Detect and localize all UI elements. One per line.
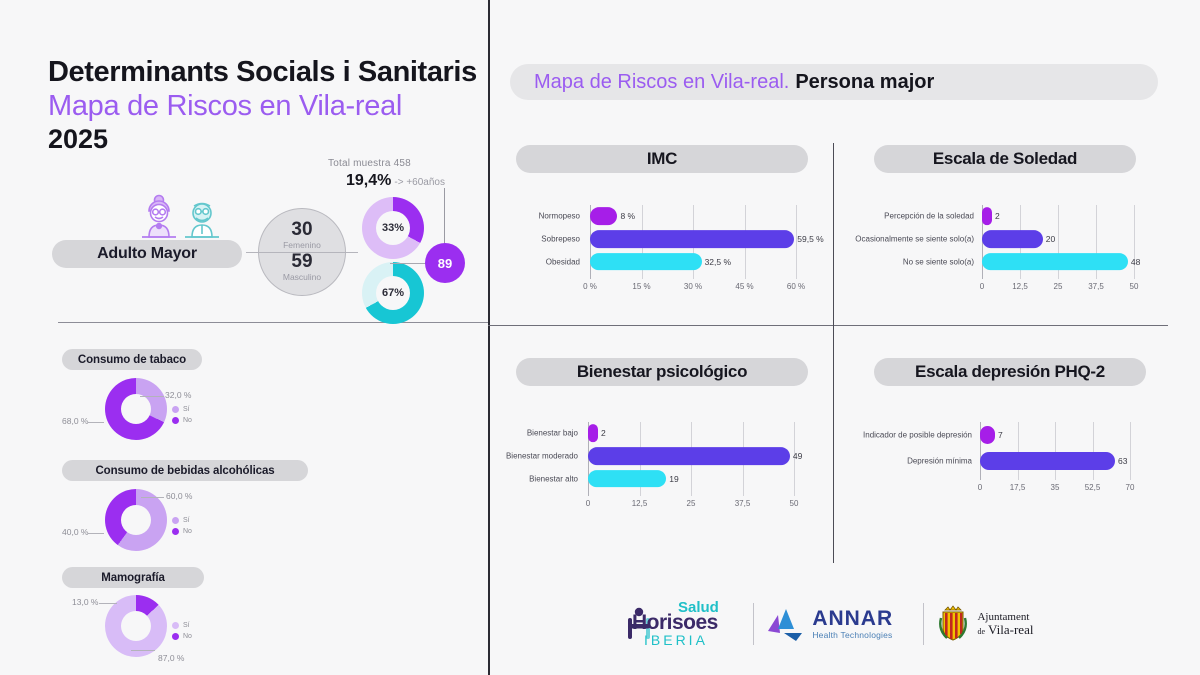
chart-x-tick: 15 % (632, 282, 650, 291)
chart-category-label: Depresión mínima (0, 457, 972, 466)
legend-swatch (172, 517, 179, 524)
chart-gridline (1093, 422, 1094, 480)
annar-logo-sub: Health Technologies (812, 631, 893, 640)
chart-x-tick: 17,5 (1010, 483, 1026, 492)
legend-label: No (183, 633, 192, 640)
male-label: Masculino (283, 272, 321, 282)
female-donut-value: 33% (382, 222, 404, 234)
chart-bar[interactable] (982, 208, 992, 226)
chart-category-label: Ocasionalmente se siente solo(a) (0, 235, 974, 244)
logo-divider-1 (753, 603, 754, 645)
ajuntament-vila-real-logo: Ajuntament de Vila-real (935, 601, 1046, 647)
donut-legend: SíNo (172, 517, 192, 539)
donut-leader-line (88, 422, 104, 423)
legend-swatch (172, 406, 179, 413)
donut-legend: SíNo (172, 406, 192, 428)
chart-x-tick: 37,5 (1088, 282, 1104, 291)
section-chip-mamografia[interactable]: Mamografía (62, 567, 204, 588)
donut-leader-line (140, 396, 164, 397)
donut-slice-label: 40,0 % (62, 527, 88, 537)
section-chip-tabaco[interactable]: Consumo de tabaco (62, 349, 202, 370)
chart-x-tick: 37,5 (735, 499, 751, 508)
chart-bar-value: 7 (998, 430, 1003, 440)
banner-subtitle: Mapa de Riscos en Vila-real. (534, 71, 789, 94)
chart-bar-value: 63 (1118, 456, 1127, 466)
chart-bar-value: 20 (1046, 234, 1055, 244)
donut-chart-alcohol (105, 489, 167, 551)
chart-category-label: No se siente solo(a) (0, 257, 974, 266)
legend-swatch (172, 528, 179, 535)
chart-x-tick: 45 % (735, 282, 753, 291)
donut-chart-mamografia (105, 595, 167, 657)
chart-x-tick: 12,5 (1012, 282, 1028, 291)
sample-percent-row: 19,4%-> +60años (346, 172, 445, 190)
gender-separator-line (246, 252, 358, 253)
donut-leader-line (88, 533, 104, 534)
dashboard-canvas: Determinants Socials i Sanitaris Mapa de… (0, 0, 1200, 675)
chart-gridline (1055, 422, 1056, 480)
donut-legend: SíNo (172, 622, 192, 644)
donut-slice-label: 13,0 % (72, 597, 98, 607)
legend-swatch (172, 417, 179, 424)
legend-label: Sí (183, 622, 190, 629)
chart-bar[interactable] (980, 452, 1115, 470)
chart-category-label: Percepción de la soledad (0, 212, 974, 221)
chart-x-tick: 0 (978, 483, 982, 492)
legend-item: Sí (172, 517, 192, 524)
sample-total-label: Total muestra 458 (328, 158, 445, 169)
ajuntament-logo-de: de (977, 627, 985, 636)
chart-x-tick: 25 (687, 499, 696, 508)
female-percent-donut: 33% (362, 197, 424, 259)
ajuntament-logo-line2: de Vila-real (977, 623, 1033, 637)
legend-item: No (172, 417, 192, 424)
main-vertical-divider (488, 0, 490, 675)
horisoes-salud-iberia-logo: Salud Horisoes IBERIA (626, 599, 741, 649)
legend-swatch (172, 633, 179, 640)
chart-x-tick: 0 (586, 499, 590, 508)
chart-bar[interactable] (588, 470, 666, 488)
chart-gridline (1018, 422, 1019, 480)
legend-label: No (183, 417, 192, 424)
donut-slice-label: 68,0 % (62, 416, 88, 426)
page-title: Determinants Socials i Sanitaris Mapa de… (48, 56, 477, 155)
chart-title-soledad: Escala de Soledad (874, 145, 1136, 173)
donut-leader-line (99, 603, 117, 604)
right-horizontal-divider (488, 325, 1168, 326)
annar-health-technologies-logo: ANNAR Health Technologies (766, 601, 910, 647)
chart-bar-value: 48 (1131, 257, 1140, 267)
legend-label: Sí (183, 517, 190, 524)
horisoes-logo-bottom: IBERIA (644, 632, 708, 648)
chart-gridline (1134, 205, 1135, 279)
sample-summary: Total muestra 458 19,4%-> +60años (328, 158, 445, 190)
vila-real-coat-of-arms-icon (935, 604, 971, 644)
chart-title-phq2: Escala depresión PHQ-2 (874, 358, 1146, 386)
title-line-3: 2025 (48, 124, 477, 155)
legend-item: Sí (172, 622, 192, 629)
male-percent-donut: 67% (362, 262, 424, 324)
legend-label: No (183, 528, 192, 535)
legend-item: No (172, 528, 192, 535)
donut-slice-label: 87,0 % (158, 653, 184, 663)
chart-bar[interactable] (982, 230, 1043, 248)
title-line-1: Determinants Socials i Sanitaris (48, 56, 477, 89)
chart-x-tick: 50 (1130, 282, 1139, 291)
legend-label: Sí (183, 406, 190, 413)
chart-bar[interactable] (980, 426, 995, 444)
chart-x-tick: 60 % (787, 282, 805, 291)
chart-x-tick: 30 % (684, 282, 702, 291)
donut-leader-line (131, 650, 155, 651)
section-banner: Mapa de Riscos en Vila-real. Persona maj… (510, 64, 1158, 100)
chart-category-label: Indicador de posible depresión (0, 431, 972, 440)
chart-bar-value: 19 (669, 474, 678, 484)
chart-gridline (1130, 422, 1131, 480)
donut-slice-label: 32,0 % (165, 390, 191, 400)
chart-title-bienestar: Bienestar psicológico (516, 358, 808, 386)
right-vertical-divider (833, 143, 834, 563)
footer-logos: Salud Horisoes IBERIA ANNAR Health Techn… (626, 596, 1046, 652)
chart-bar-value: 2 (995, 211, 1000, 221)
legend-swatch (172, 622, 179, 629)
annar-logo-main: ANNAR (812, 608, 893, 629)
donut-slice-label: 60,0 % (166, 491, 192, 501)
ajuntament-logo-city: Vila-real (988, 622, 1033, 637)
chart-x-tick: 52,5 (1085, 483, 1101, 492)
sample-percent-value: 19,4% (346, 172, 391, 189)
legend-item: No (172, 633, 192, 640)
left-horizontal-divider (58, 322, 488, 323)
chart-bar[interactable] (982, 253, 1128, 271)
chart-x-tick: 70 (1126, 483, 1135, 492)
chart-x-tick: 12,5 (632, 499, 648, 508)
donut-leader-line (141, 497, 164, 498)
logo-divider-2 (923, 603, 924, 645)
chart-title-imc: IMC (516, 145, 808, 173)
chart-x-tick: 25 (1054, 282, 1063, 291)
chart-x-tick: 0 (980, 282, 984, 291)
banner-title: Persona major (795, 71, 934, 94)
chart-x-tick: 50 (790, 499, 799, 508)
chart-x-tick: 0 % (583, 282, 597, 291)
annar-mark-icon (766, 605, 806, 643)
chart-category-label: Bienestar alto (0, 474, 578, 483)
sample-percent-note: -> +60años (394, 177, 445, 188)
title-line-2: Mapa de Riscos en Vila-real (48, 90, 477, 123)
legend-item: Sí (172, 406, 192, 413)
male-donut-value: 67% (382, 287, 404, 299)
chart-x-tick: 35 (1051, 483, 1060, 492)
